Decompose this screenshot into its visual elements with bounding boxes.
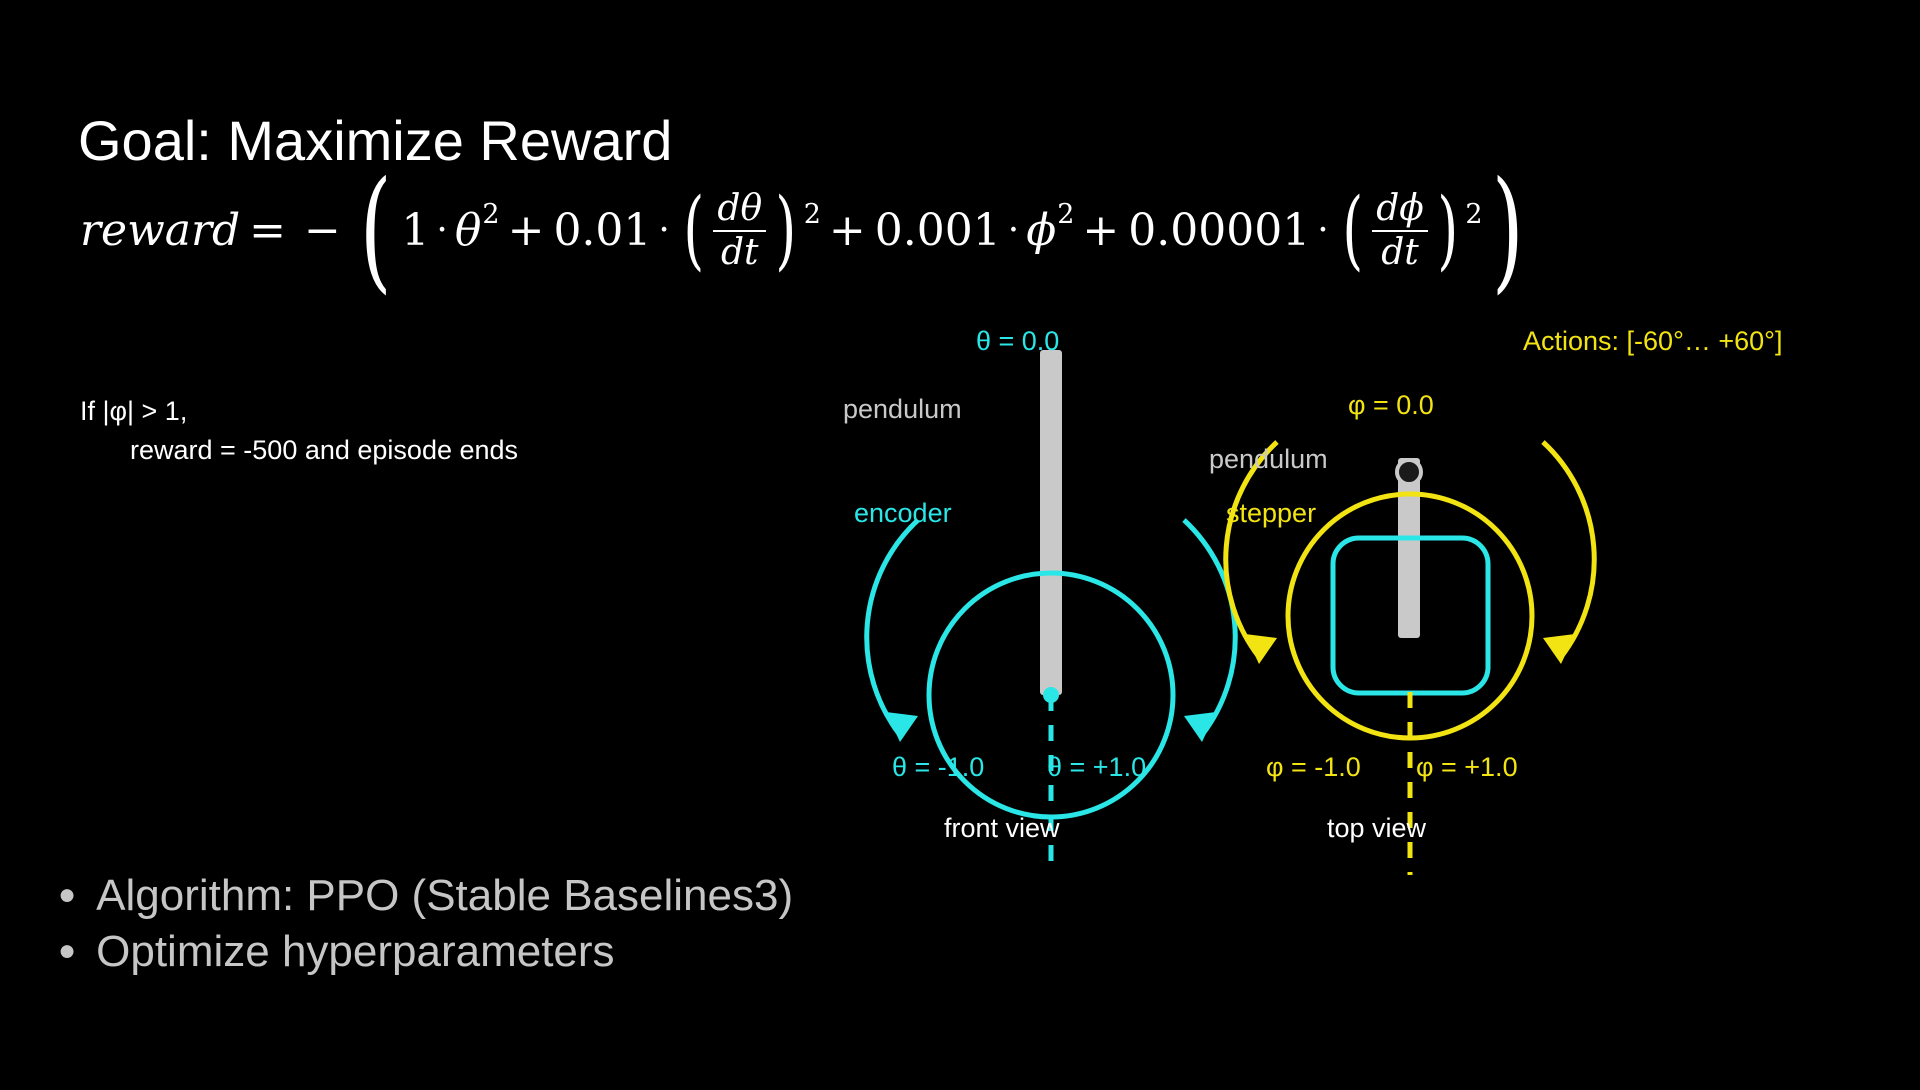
termination-note: If |φ| > 1, reward = -500 and episode en…	[80, 392, 518, 470]
list-item: ● Algorithm: PPO (Stable Baselines3)	[58, 868, 793, 924]
rotation-arrow-left-front	[867, 520, 918, 735]
bullet-label-optimize: Optimize hyperparameters	[96, 924, 614, 980]
top-view-actions-label: Actions: [-60°… +60°]	[1523, 326, 1782, 357]
front-view-theta-negative-label: θ = -1.0	[892, 752, 984, 783]
formula-dot-3: ·	[1001, 210, 1026, 251]
rotation-arrowhead-right-top	[1543, 634, 1575, 664]
front-view-theta-top-label: θ = 0.0	[976, 326, 1059, 357]
top-view-phi-top-label: φ = 0.0	[1348, 390, 1434, 421]
rotation-arrow-right-top	[1543, 442, 1594, 657]
reward-formula: reward = − ( 1 · θ 2 + 0.01 · ( dθ dt ) …	[80, 190, 1520, 320]
formula-term3-exponent: 2	[1057, 199, 1074, 230]
formula-term4-open-paren: (	[1342, 205, 1363, 257]
formula-term2-close-paren: )	[776, 205, 797, 257]
pendulum-head-top	[1397, 460, 1421, 484]
formula-plus-2: +	[820, 205, 875, 256]
formula-term3-var: ϕ	[1026, 205, 1056, 256]
formula-term1-exponent: 2	[482, 199, 499, 230]
reward-formula-expression: reward = − ( 1 · θ 2 + 0.01 · ( dθ dt ) …	[80, 190, 1520, 272]
bullet-label-algorithm: Algorithm: PPO (Stable Baselines3)	[96, 868, 793, 924]
top-view-caption: top view	[1327, 813, 1426, 844]
formula-minus: −	[295, 205, 350, 256]
formula-close-paren: )	[1491, 191, 1523, 270]
rotation-arrowhead-left-front	[886, 712, 918, 742]
formula-plus-3: +	[1073, 205, 1128, 256]
formula-dot-4: ·	[1310, 210, 1335, 251]
formula-term2-coef: 0.01	[553, 205, 651, 256]
formula-plus-1: +	[499, 205, 554, 256]
formula-term4-close-paren: )	[1437, 205, 1458, 257]
formula-term4-numerator: dϕ	[1372, 190, 1428, 230]
front-view-pendulum-label: pendulum	[843, 394, 962, 425]
formula-lhs: reward	[80, 205, 240, 256]
formula-dot-2: ·	[651, 210, 676, 251]
front-view-encoder-label: encoder	[854, 498, 952, 529]
front-view-caption: front view	[944, 813, 1060, 844]
top-view-pendulum-label: pendulum	[1209, 444, 1328, 475]
slide-canvas: Goal: Maximize Reward reward = − ( 1 · θ…	[0, 0, 1920, 1080]
formula-term2-exponent: 2	[804, 199, 821, 230]
formula-open-paren: (	[360, 191, 392, 270]
formula-dot-1: ·	[429, 210, 454, 251]
bullet-dot-icon: ●	[58, 880, 76, 910]
formula-term2-numerator: dθ	[713, 190, 766, 230]
top-view-phi-positive-label: φ = +1.0	[1416, 752, 1518, 783]
formula-term4-coef: 0.00001	[1128, 205, 1310, 256]
formula-term4-denominator: dt	[1377, 232, 1423, 272]
formula-term4-fraction: dϕ dt	[1369, 190, 1431, 272]
front-view-theta-positive-label: θ = +1.0	[1047, 752, 1146, 783]
formula-term3-coef: 0.001	[875, 205, 1001, 256]
bullet-list: ● Algorithm: PPO (Stable Baselines3) ● O…	[58, 868, 793, 981]
list-item: ● Optimize hyperparameters	[58, 924, 793, 980]
note-line-consequence: reward = -500 and episode ends	[80, 431, 518, 470]
bullet-dot-icon: ●	[58, 936, 76, 966]
top-view-stepper-label: stepper	[1226, 498, 1316, 529]
formula-term1-var: θ	[455, 205, 482, 256]
formula-term4-exponent: 2	[1465, 199, 1482, 230]
top-view-phi-negative-label: φ = -1.0	[1266, 752, 1361, 783]
rotation-arrowhead-left-top	[1245, 634, 1277, 664]
note-line-condition: If |φ| > 1,	[80, 392, 518, 431]
formula-term2-denominator: dt	[717, 232, 763, 272]
formula-term1-coef: 1	[401, 205, 429, 256]
formula-equals: =	[240, 205, 295, 256]
formula-term2-open-paren: (	[683, 205, 704, 257]
pendulum-rod-front	[1040, 350, 1062, 695]
formula-term2-fraction: dθ dt	[710, 190, 769, 272]
